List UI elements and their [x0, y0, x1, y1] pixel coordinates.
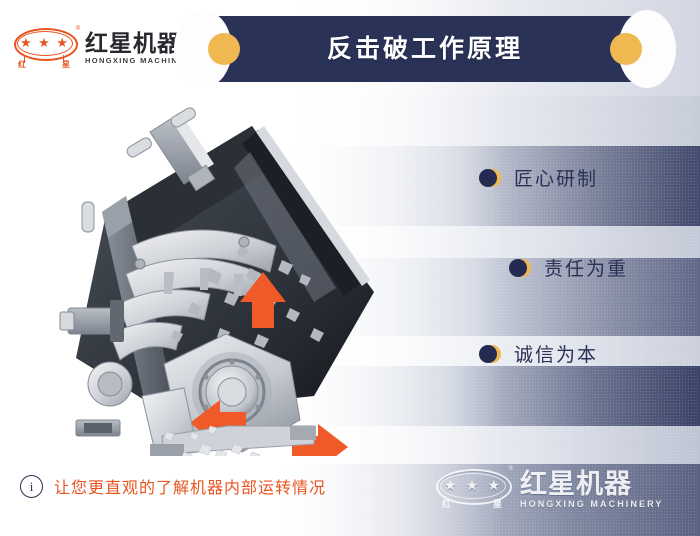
feature-label-2: 诚信为本: [514, 340, 598, 367]
title-banner: 反击破工作原理: [204, 16, 646, 82]
bullet-core: [479, 345, 497, 363]
brand-sub-char-right: 星: [62, 61, 70, 69]
watermark-wordmark: 红星机器 HONGXING MACHINERY: [520, 470, 663, 510]
bullet-core: [479, 169, 497, 187]
feature-label-0: 匠心研制: [514, 164, 598, 191]
brand-star-icon-3: ★: [56, 36, 68, 49]
feature-item-2[interactable]: 诚信为本: [478, 340, 598, 367]
watermark-sub-char-left: 红: [442, 499, 451, 509]
footer-caption-text: 让您更直观的了解机器内部运转情况: [54, 474, 326, 498]
bullet-core: [509, 259, 527, 277]
watermark-sub-char-right: 星: [493, 499, 502, 509]
brand-star-icon-1: ★: [20, 36, 32, 49]
brand-legs: 红 星: [18, 55, 70, 69]
watermark-registered-icon: ®: [509, 466, 513, 472]
brand-logo: ★ ★ ★ 红 星 ® 红星机器 HONGXING MACHINERY: [14, 26, 197, 70]
page-title: 反击破工作原理: [204, 33, 646, 65]
brand-stars-icon: ★ ★ ★: [20, 34, 68, 51]
brand-star-oval-icon: ★ ★ ★ 红 星 ®: [14, 26, 78, 70]
slide-canvas: ★ ★ ★ 红 星 ® 红星机器 HONGXING MACHINERY: [0, 0, 700, 536]
footer-caption: i 让您更直观的了解机器内部运转情况: [20, 474, 326, 498]
watermark-name-cn: 红星机器: [520, 470, 663, 498]
info-icon-glyph: i: [30, 480, 34, 493]
info-circle-icon: i: [20, 475, 43, 498]
watermark-stars-icon: ★ ★ ★: [444, 476, 500, 494]
feature-label-1: 责任为重: [544, 254, 628, 281]
watermark-star-icon-1: ★: [444, 478, 457, 492]
feature-item-0[interactable]: 匠心研制: [478, 164, 598, 191]
watermark-sub-chars: 红 星: [442, 499, 502, 509]
watermark-name-en: HONGXING MACHINERY: [520, 499, 663, 510]
watermark-star-icon-2: ★: [466, 478, 479, 492]
watermark-star-icon-3: ★: [487, 478, 500, 492]
impact-crusher-illustration: [14, 96, 414, 456]
brand-registered-icon: ®: [76, 26, 80, 32]
watermark-star-oval-icon: ★ ★ ★ 红 星 ®: [436, 465, 512, 515]
feature-item-1[interactable]: 责任为重: [508, 254, 628, 281]
bullet-dot-icon: [478, 168, 502, 188]
brand-sub-char-left: 红: [18, 61, 26, 69]
crusher-diagram-svg: [14, 96, 414, 456]
brand-star-icon-2: ★: [38, 36, 50, 49]
bullet-dot-icon: [478, 344, 502, 364]
bullet-dot-icon: [508, 258, 532, 278]
watermark-logo: ★ ★ ★ 红 星 ® 红星机器 HONGXING MACHINERY: [436, 460, 688, 520]
brand-sub-chars: 红 星: [18, 61, 70, 69]
